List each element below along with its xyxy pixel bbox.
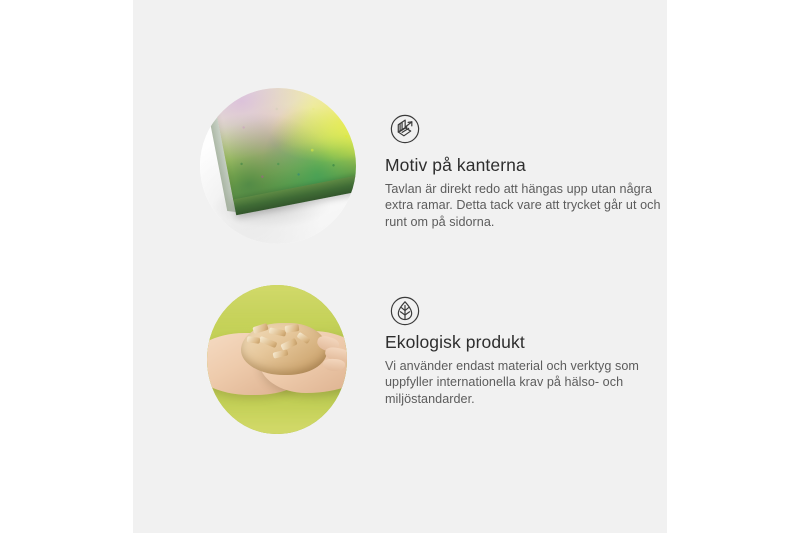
leaf-icon — [386, 292, 424, 330]
canvas-wrapped-edges-icon — [386, 110, 424, 148]
hands-holding-wood-chips-photo — [207, 285, 347, 434]
product-feature-banner: Motiv på kanterna Tavlan är direkt redo … — [0, 0, 800, 533]
content-panel: Motiv på kanterna Tavlan är direkt redo … — [133, 0, 667, 533]
feature-text-eco: Ekologisk produkt Vi använder endast mat… — [385, 332, 665, 407]
feature-title: Ekologisk produkt — [385, 332, 665, 352]
feature-description: Tavlan är direkt redo att hängas upp uta… — [385, 181, 665, 230]
feature-title: Motiv på kanterna — [385, 155, 665, 175]
feature-description: Vi använder endast material och verktyg … — [385, 358, 665, 407]
feature-text-edges: Motiv på kanterna Tavlan är direkt redo … — [385, 155, 665, 230]
canvas-block — [211, 88, 356, 233]
canvas-print-corner-photo — [200, 88, 356, 244]
